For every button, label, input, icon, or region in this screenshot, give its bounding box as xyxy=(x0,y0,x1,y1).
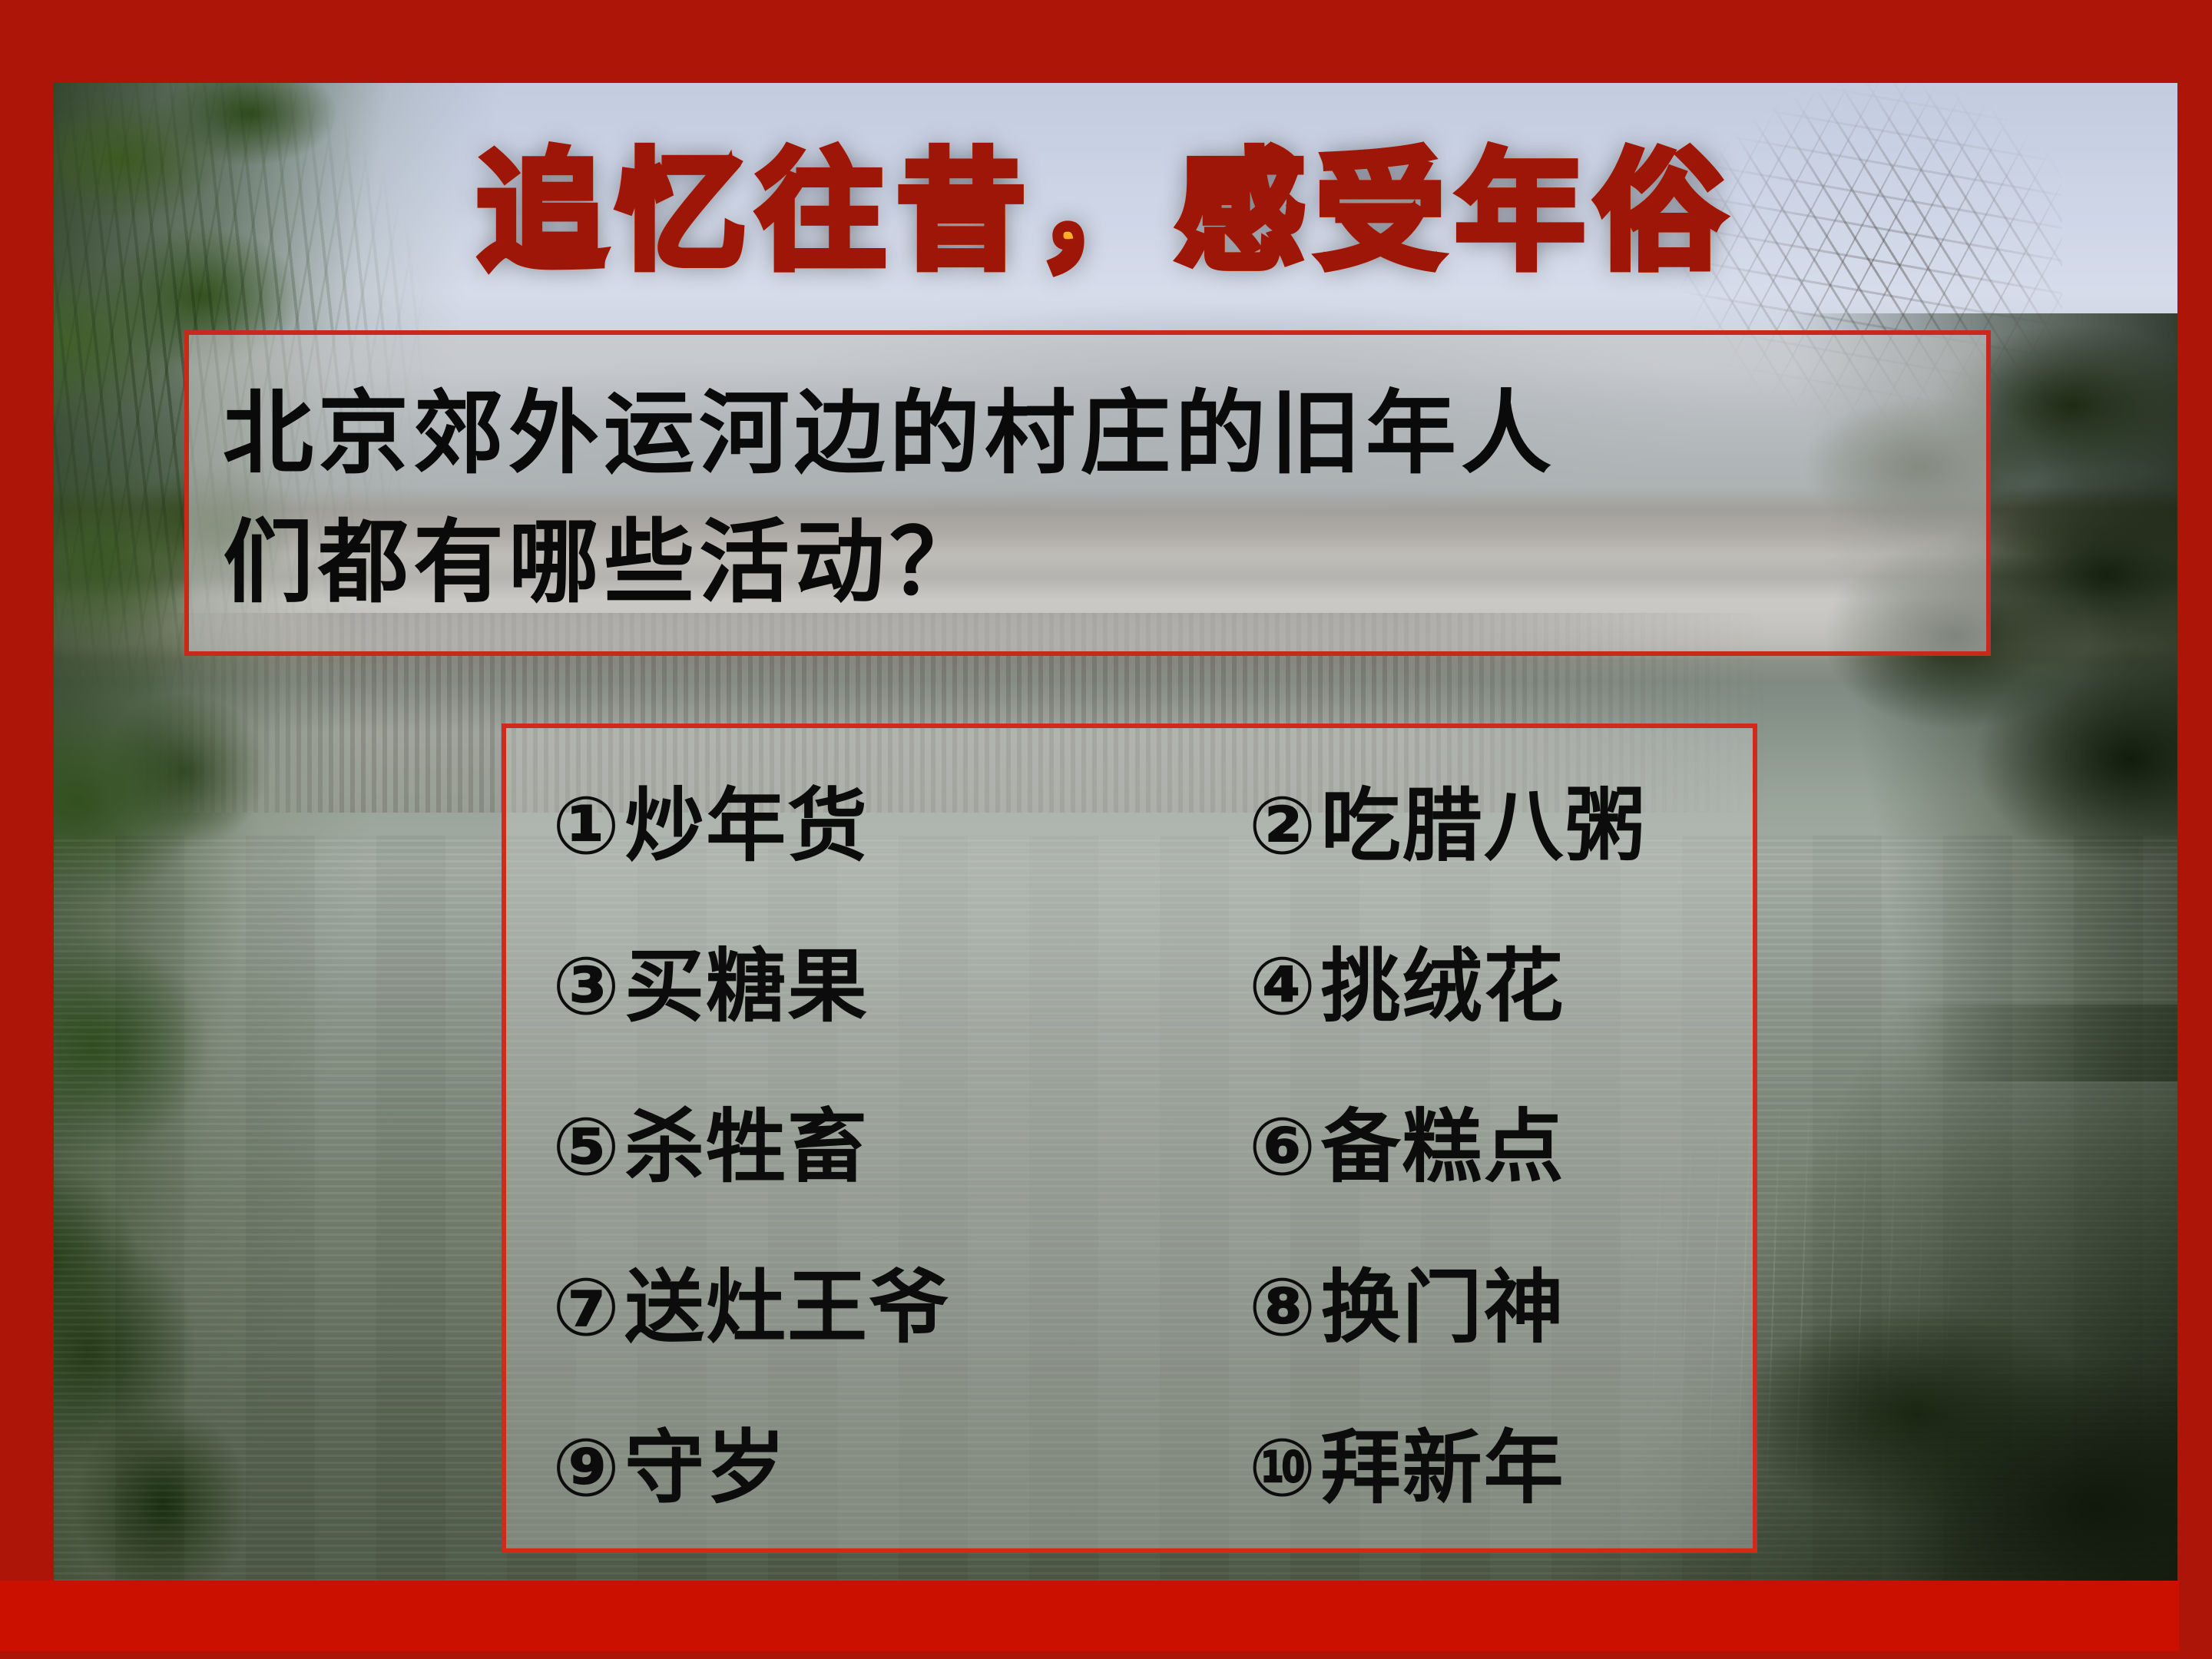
activity-number-10: ⑩ xyxy=(1249,1421,1318,1515)
activity-number-7: ⑦ xyxy=(552,1260,621,1354)
activity-number-4: ④ xyxy=(1249,939,1318,1033)
activity-label-7: 送灶王爷 xyxy=(624,1260,950,1354)
activity-label-4: 挑绒花 xyxy=(1321,939,1565,1033)
question-panel: 北京郊外运河边的村庄的旧年人 们都有哪些活动？ xyxy=(184,330,1991,656)
activity-number-9: ⑨ xyxy=(552,1421,621,1515)
bottom-red-band xyxy=(0,1581,2179,1651)
activity-item-1: ①炒年货 xyxy=(552,786,1249,866)
activity-number-5: ⑤ xyxy=(552,1100,621,1194)
activity-item-6: ⑥备糕点 xyxy=(1249,1107,1753,1187)
activity-number-3: ③ xyxy=(552,939,621,1033)
activity-list-panel: ①炒年货 ②吃腊八粥 ③买糖果 ④挑绒花 ⑤杀牲畜 ⑥备糕点 ⑦送灶王爷 ⑧换门… xyxy=(502,724,1757,1553)
activity-number-8: ⑧ xyxy=(1249,1260,1318,1354)
activity-label-2: 吃腊八粥 xyxy=(1321,779,1647,873)
activity-item-3: ③买糖果 xyxy=(552,946,1249,1026)
question-line-2: 们都有哪些活动？ xyxy=(223,498,1952,627)
activity-item-7: ⑦送灶王爷 xyxy=(552,1267,1249,1347)
activity-list-grid: ①炒年货 ②吃腊八粥 ③买糖果 ④挑绒花 ⑤杀牲畜 ⑥备糕点 ⑦送灶王爷 ⑧换门… xyxy=(506,745,1753,1548)
activity-item-9: ⑨守岁 xyxy=(552,1428,1249,1508)
activity-label-3: 买糖果 xyxy=(624,939,869,1033)
activity-label-8: 换门神 xyxy=(1321,1260,1565,1354)
slide-canvas: 追忆往昔，感受年俗 追忆往昔，感受年俗 北京郊外运河边的村庄的旧年人 们都有哪些… xyxy=(0,0,2212,1659)
activity-label-1: 炒年货 xyxy=(624,779,869,873)
activity-label-5: 杀牲畜 xyxy=(624,1100,869,1194)
activity-number-1: ① xyxy=(552,779,621,873)
activity-item-2: ②吃腊八粥 xyxy=(1249,786,1753,866)
activity-number-6: ⑥ xyxy=(1249,1100,1318,1194)
activity-label-6: 备糕点 xyxy=(1321,1100,1565,1194)
activity-label-9: 守岁 xyxy=(624,1421,787,1515)
question-line-1: 北京郊外运河边的村庄的旧年人 xyxy=(223,369,1952,498)
activity-label-10: 拜新年 xyxy=(1321,1421,1565,1515)
activity-item-10: ⑩拜新年 xyxy=(1249,1428,1753,1508)
activity-item-5: ⑤杀牲畜 xyxy=(552,1107,1249,1187)
activity-item-8: ⑧换门神 xyxy=(1249,1267,1753,1347)
activity-item-4: ④挑绒花 xyxy=(1249,946,1753,1026)
activity-number-2: ② xyxy=(1249,779,1318,873)
